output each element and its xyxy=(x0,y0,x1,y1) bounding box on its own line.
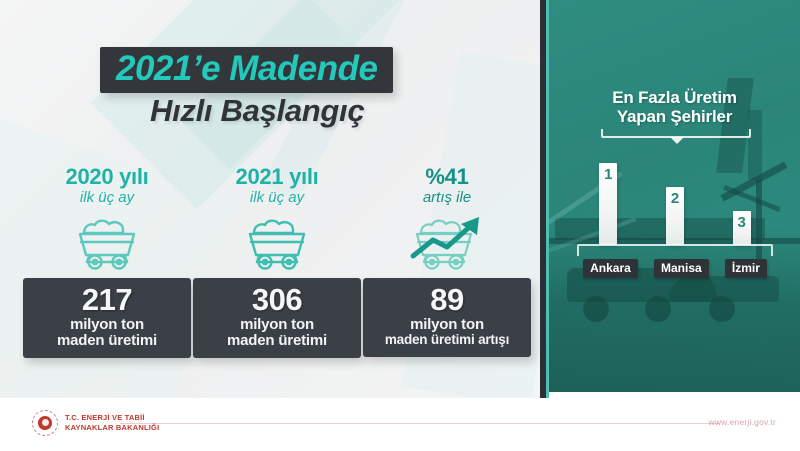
stat-card: 217 milyon ton maden üretimi xyxy=(23,278,191,358)
stat-subheading: ilk üç ay xyxy=(250,189,304,206)
cities-panel: En Fazla Üretim Yapan Şehirler 1 2 3 Ank… xyxy=(549,0,800,392)
stat-subheading: ilk üç ay xyxy=(80,189,134,206)
mine-cart-icon xyxy=(240,212,314,274)
stat-label-line2: maden üretimi xyxy=(27,333,187,349)
chart-axis-bracket xyxy=(577,244,773,256)
turkish-state-emblem-icon xyxy=(32,410,58,436)
stat-block-increase: %41 artış ile xyxy=(362,165,532,357)
city-label-ankara: Ankara xyxy=(583,259,638,278)
stat-label-line1: milyon ton xyxy=(27,317,187,333)
mine-cart-growth-arrow-icon xyxy=(405,212,489,274)
stat-heading: 2020 yılı xyxy=(66,165,149,188)
stat-heading: 2021 yılı xyxy=(236,165,319,188)
stat-number: 217 xyxy=(27,284,187,315)
infographic-root: 2021’e Madende Hızlı Başlangıç 2020 yılı… xyxy=(0,0,800,451)
stat-block-2020: 2020 yılı ilk üç ay 217 milyon ton xyxy=(22,165,192,358)
stat-label-line2: maden üretimi artışı xyxy=(367,333,527,348)
bar-column: 1 xyxy=(578,163,638,245)
ministry-branding: T.C. ENERJİ VE TABİİ KAYNAKLAR BAKANLIĞI xyxy=(32,410,159,436)
page-title-line2: Hızlı Başlangıç xyxy=(150,93,364,129)
stat-label-line1: milyon ton xyxy=(197,317,357,333)
website-url[interactable]: www.enerji.gov.tr xyxy=(709,417,777,427)
bar-column: 3 xyxy=(712,211,772,245)
stat-block-2021: 2021 yılı ilk üç ay 306 milyon ton xyxy=(192,165,362,358)
title-plate: 2021’e Madende xyxy=(100,47,393,93)
bar-rank-1: 1 xyxy=(599,163,617,245)
chevron-down-icon xyxy=(670,137,684,144)
crescent-star-icon xyxy=(38,416,52,430)
footer-divider xyxy=(120,423,720,424)
cities-panel-title: En Fazla Üretim Yapan Şehirler xyxy=(549,88,800,126)
stat-label-line2: maden üretimi xyxy=(197,333,357,349)
ministry-name-line2: KAYNAKLAR BAKANLIĞI xyxy=(65,423,159,433)
cities-title-line2: Yapan Şehirler xyxy=(549,107,800,126)
chart-category-labels: Ankara Manisa İzmir xyxy=(575,258,775,278)
city-label-manisa: Manisa xyxy=(654,259,709,278)
stat-card: 306 milyon ton maden üretimi xyxy=(193,278,361,358)
bar-column: 2 xyxy=(645,187,705,245)
stat-number: 306 xyxy=(197,284,357,315)
cities-bar-chart: 1 2 3 Ankara Manisa İzmir xyxy=(575,163,775,278)
bar-rank-2: 2 xyxy=(666,187,684,245)
ministry-name-line1: T.C. ENERJİ VE TABİİ xyxy=(65,413,159,423)
stat-number: 89 xyxy=(367,284,527,315)
city-label-izmir: İzmir xyxy=(725,259,767,278)
page-title-line1: 2021’e Madende xyxy=(116,51,377,86)
footer: T.C. ENERJİ VE TABİİ KAYNAKLAR BAKANLIĞI… xyxy=(0,398,800,451)
stat-label-line1: milyon ton xyxy=(367,317,527,333)
cities-title-line1: En Fazla Üretim xyxy=(549,88,800,107)
stat-card: 89 milyon ton maden üretimi artışı xyxy=(363,278,531,357)
chart-bars: 1 2 3 xyxy=(575,163,775,245)
mine-cart-icon xyxy=(70,212,144,274)
stat-subheading: artış ile xyxy=(423,189,471,206)
stats-row: 2020 yılı ilk üç ay 217 milyon ton xyxy=(22,165,532,358)
ministry-name: T.C. ENERJİ VE TABİİ KAYNAKLAR BAKANLIĞI xyxy=(65,413,159,433)
bar-rank-3: 3 xyxy=(733,211,751,245)
stat-heading: %41 xyxy=(425,165,468,188)
